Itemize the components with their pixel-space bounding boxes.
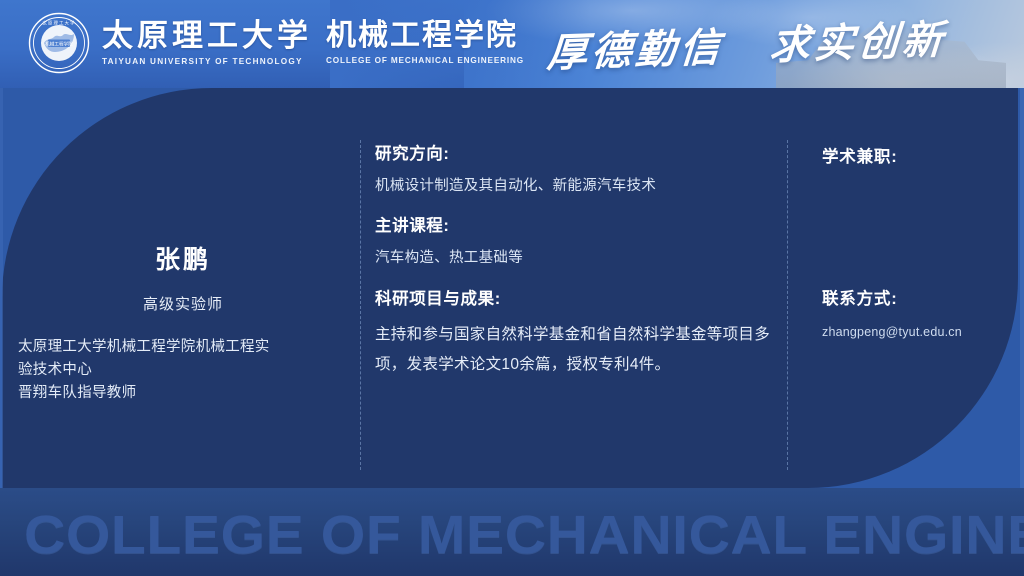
affiliation-line: 晋翔车队指导教师 — [18, 382, 348, 404]
college-name-en: COLLEGE OF MECHANICAL ENGINEERING — [326, 56, 524, 65]
university-name-group: 太原理工大学 TAIYUAN UNIVERSITY OF TECHNOLOGY — [102, 20, 312, 66]
contact-heading: 联系方式: — [822, 285, 1012, 309]
person-affiliation: 太原理工大学机械工程学院机械工程实 验技术中心 晋翔车队指导教师 — [18, 336, 348, 404]
courses-body: 汽车构造、热工基础等 — [375, 247, 775, 270]
header-band: 机械工程学院 太原理工大学 太原理工大学 TAIYUAN UNIVERSITY … — [0, 0, 1024, 88]
academic-appointments-block: 学术兼职: — [822, 143, 1012, 181]
svg-text:机械工程学院: 机械工程学院 — [45, 40, 73, 47]
motto-left: 厚德勤信 — [545, 15, 726, 79]
person-title: 高级实验师 — [18, 293, 348, 314]
footer-title: COLLEGE OF MECHANICAL ENGINEERING — [24, 504, 1024, 566]
brand-logo-block: 机械工程学院 太原理工大学 太原理工大学 TAIYUAN UNIVERSITY … — [28, 12, 524, 74]
projects-body: 主持和参与国家自然科学基金和省自然科学基金等项目多项，发表学术论文10余篇，授权… — [375, 320, 775, 380]
academic-appointments-heading: 学术兼职: — [822, 143, 1012, 167]
contact-block: 联系方式: zhangpeng@tyut.edu.cn — [822, 285, 1012, 342]
courses-heading: 主讲课程: — [375, 212, 775, 236]
college-name-group: 机械工程学院 COLLEGE OF MECHANICAL ENGINEERING — [326, 20, 524, 65]
svg-text:太原理工大学: 太原理工大学 — [43, 19, 76, 26]
column-divider-left — [360, 140, 361, 470]
panel-right-edge — [1020, 88, 1024, 488]
research-direction-body: 机械设计制造及其自动化、新能源汽车技术 — [375, 175, 775, 198]
university-name-en: TAIYUAN UNIVERSITY OF TECHNOLOGY — [102, 57, 312, 66]
slide-root: 机械工程学院 太原理工大学 太原理工大学 TAIYUAN UNIVERSITY … — [0, 0, 1024, 576]
university-seal-icon: 机械工程学院 太原理工大学 — [28, 12, 90, 74]
projects-heading: 科研项目与成果: — [375, 285, 775, 309]
person-name: 张鹏 — [18, 240, 348, 276]
research-direction-heading: 研究方向: — [375, 140, 775, 164]
column-divider-right — [787, 140, 788, 470]
affiliation-line: 验技术中心 — [18, 359, 348, 381]
profile-column: 张鹏 高级实验师 太原理工大学机械工程学院机械工程实 验技术中心 晋翔车队指导教… — [18, 240, 348, 404]
panel-left-edge — [0, 88, 3, 488]
contact-email[interactable]: zhangpeng@tyut.edu.cn — [822, 323, 1012, 342]
affiliation-line: 太原理工大学机械工程学院机械工程实 — [18, 336, 348, 358]
motto-right: 求实创新 — [768, 7, 949, 71]
details-column: 研究方向: 机械设计制造及其自动化、新能源汽车技术 主讲课程: 汽车构造、热工基… — [375, 140, 775, 393]
university-name-cn: 太原理工大学 — [102, 20, 312, 53]
college-name-cn: 机械工程学院 — [326, 20, 524, 52]
footer-band: COLLEGE OF MECHANICAL ENGINEERING — [0, 488, 1024, 576]
